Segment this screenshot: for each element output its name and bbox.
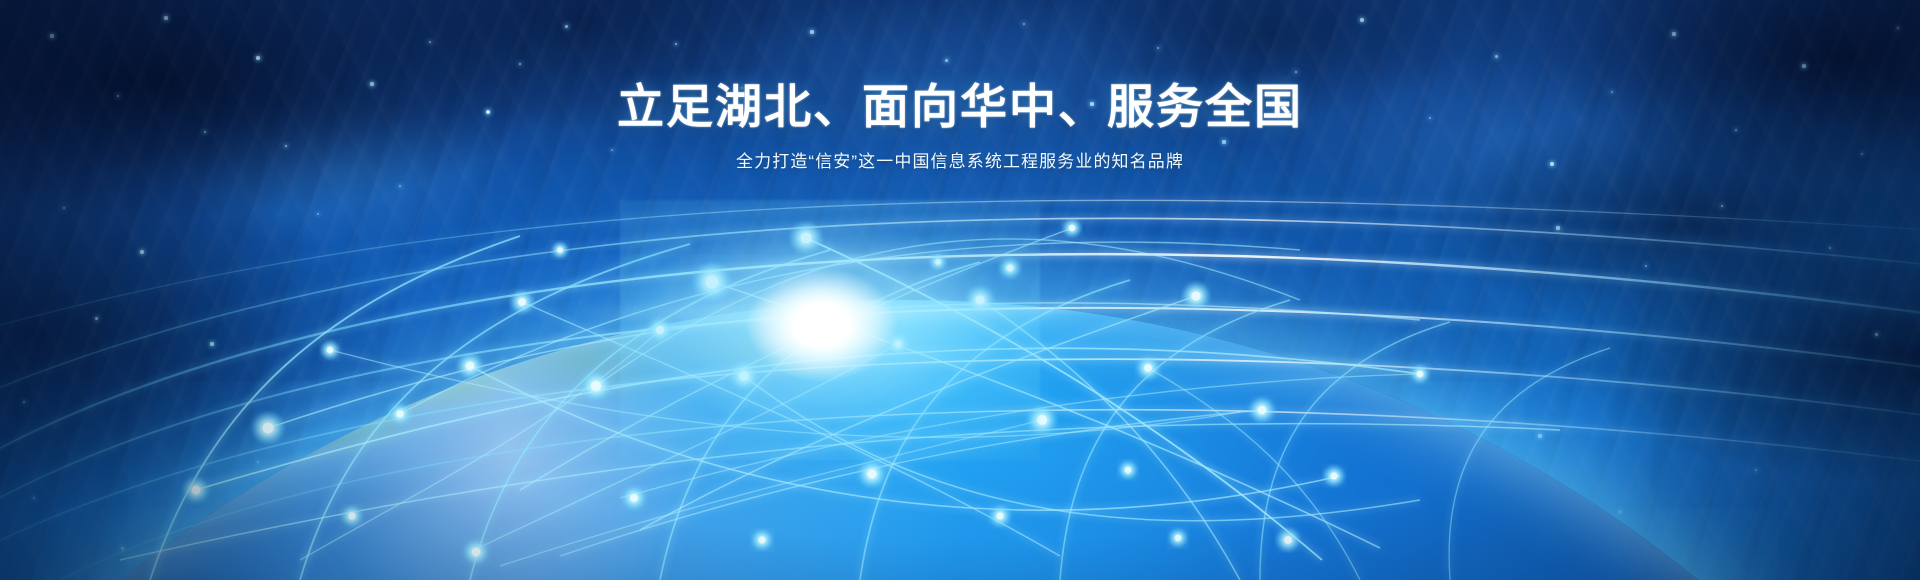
- mesh-chord-group: [120, 228, 1560, 580]
- mesh-node: [656, 326, 664, 334]
- mesh-node: [1125, 467, 1131, 473]
- mesh-node: [1175, 535, 1181, 541]
- mesh-meridian-group: [150, 236, 1610, 580]
- mesh-node: [894, 340, 901, 347]
- mesh-node: [975, 295, 984, 304]
- mesh-node: [801, 233, 812, 244]
- banner-subline: 全力打造“信安”这一中国信息系统工程服务业的知名品牌: [0, 149, 1920, 175]
- mesh-node: [935, 259, 941, 265]
- mesh-node: [1144, 364, 1152, 372]
- mesh-node: [996, 512, 1003, 519]
- mesh-node: [466, 362, 475, 371]
- mesh-node: [396, 410, 403, 417]
- mesh-node: [739, 371, 748, 380]
- mesh-node: [1037, 415, 1047, 425]
- mesh-node: [557, 247, 563, 253]
- mesh-arc-group: [0, 200, 1920, 580]
- mesh-node: [1069, 225, 1075, 231]
- hero-banner: 立足湖北、面向华中、服务全国 全力打造“信安”这一中国信息系统工程服务业的知名品…: [0, 0, 1920, 580]
- mesh-node: [1006, 264, 1013, 271]
- banner-copy: 立足湖北、面向华中、服务全国 全力打造“信安”这一中国信息系统工程服务业的知名品…: [0, 78, 1920, 175]
- mesh-node: [1284, 536, 1292, 544]
- mesh-node: [263, 423, 274, 434]
- mesh-node: [518, 298, 526, 306]
- mesh-node: [472, 548, 481, 557]
- mesh-node: [1191, 291, 1200, 300]
- mesh-node: [867, 469, 876, 478]
- mesh-node: [327, 347, 333, 353]
- mesh-node: [348, 512, 355, 519]
- mesh-node: [1417, 371, 1423, 377]
- mesh-node: [706, 276, 719, 289]
- mesh-node: [836, 312, 845, 321]
- mesh-node: [630, 494, 638, 502]
- mesh-node: [1330, 472, 1337, 479]
- mesh-node: [758, 536, 765, 543]
- banner-headline: 立足湖北、面向华中、服务全国: [0, 78, 1920, 135]
- mesh-node: [1258, 406, 1267, 415]
- mesh-node: [192, 486, 201, 495]
- mesh-node: [591, 381, 601, 391]
